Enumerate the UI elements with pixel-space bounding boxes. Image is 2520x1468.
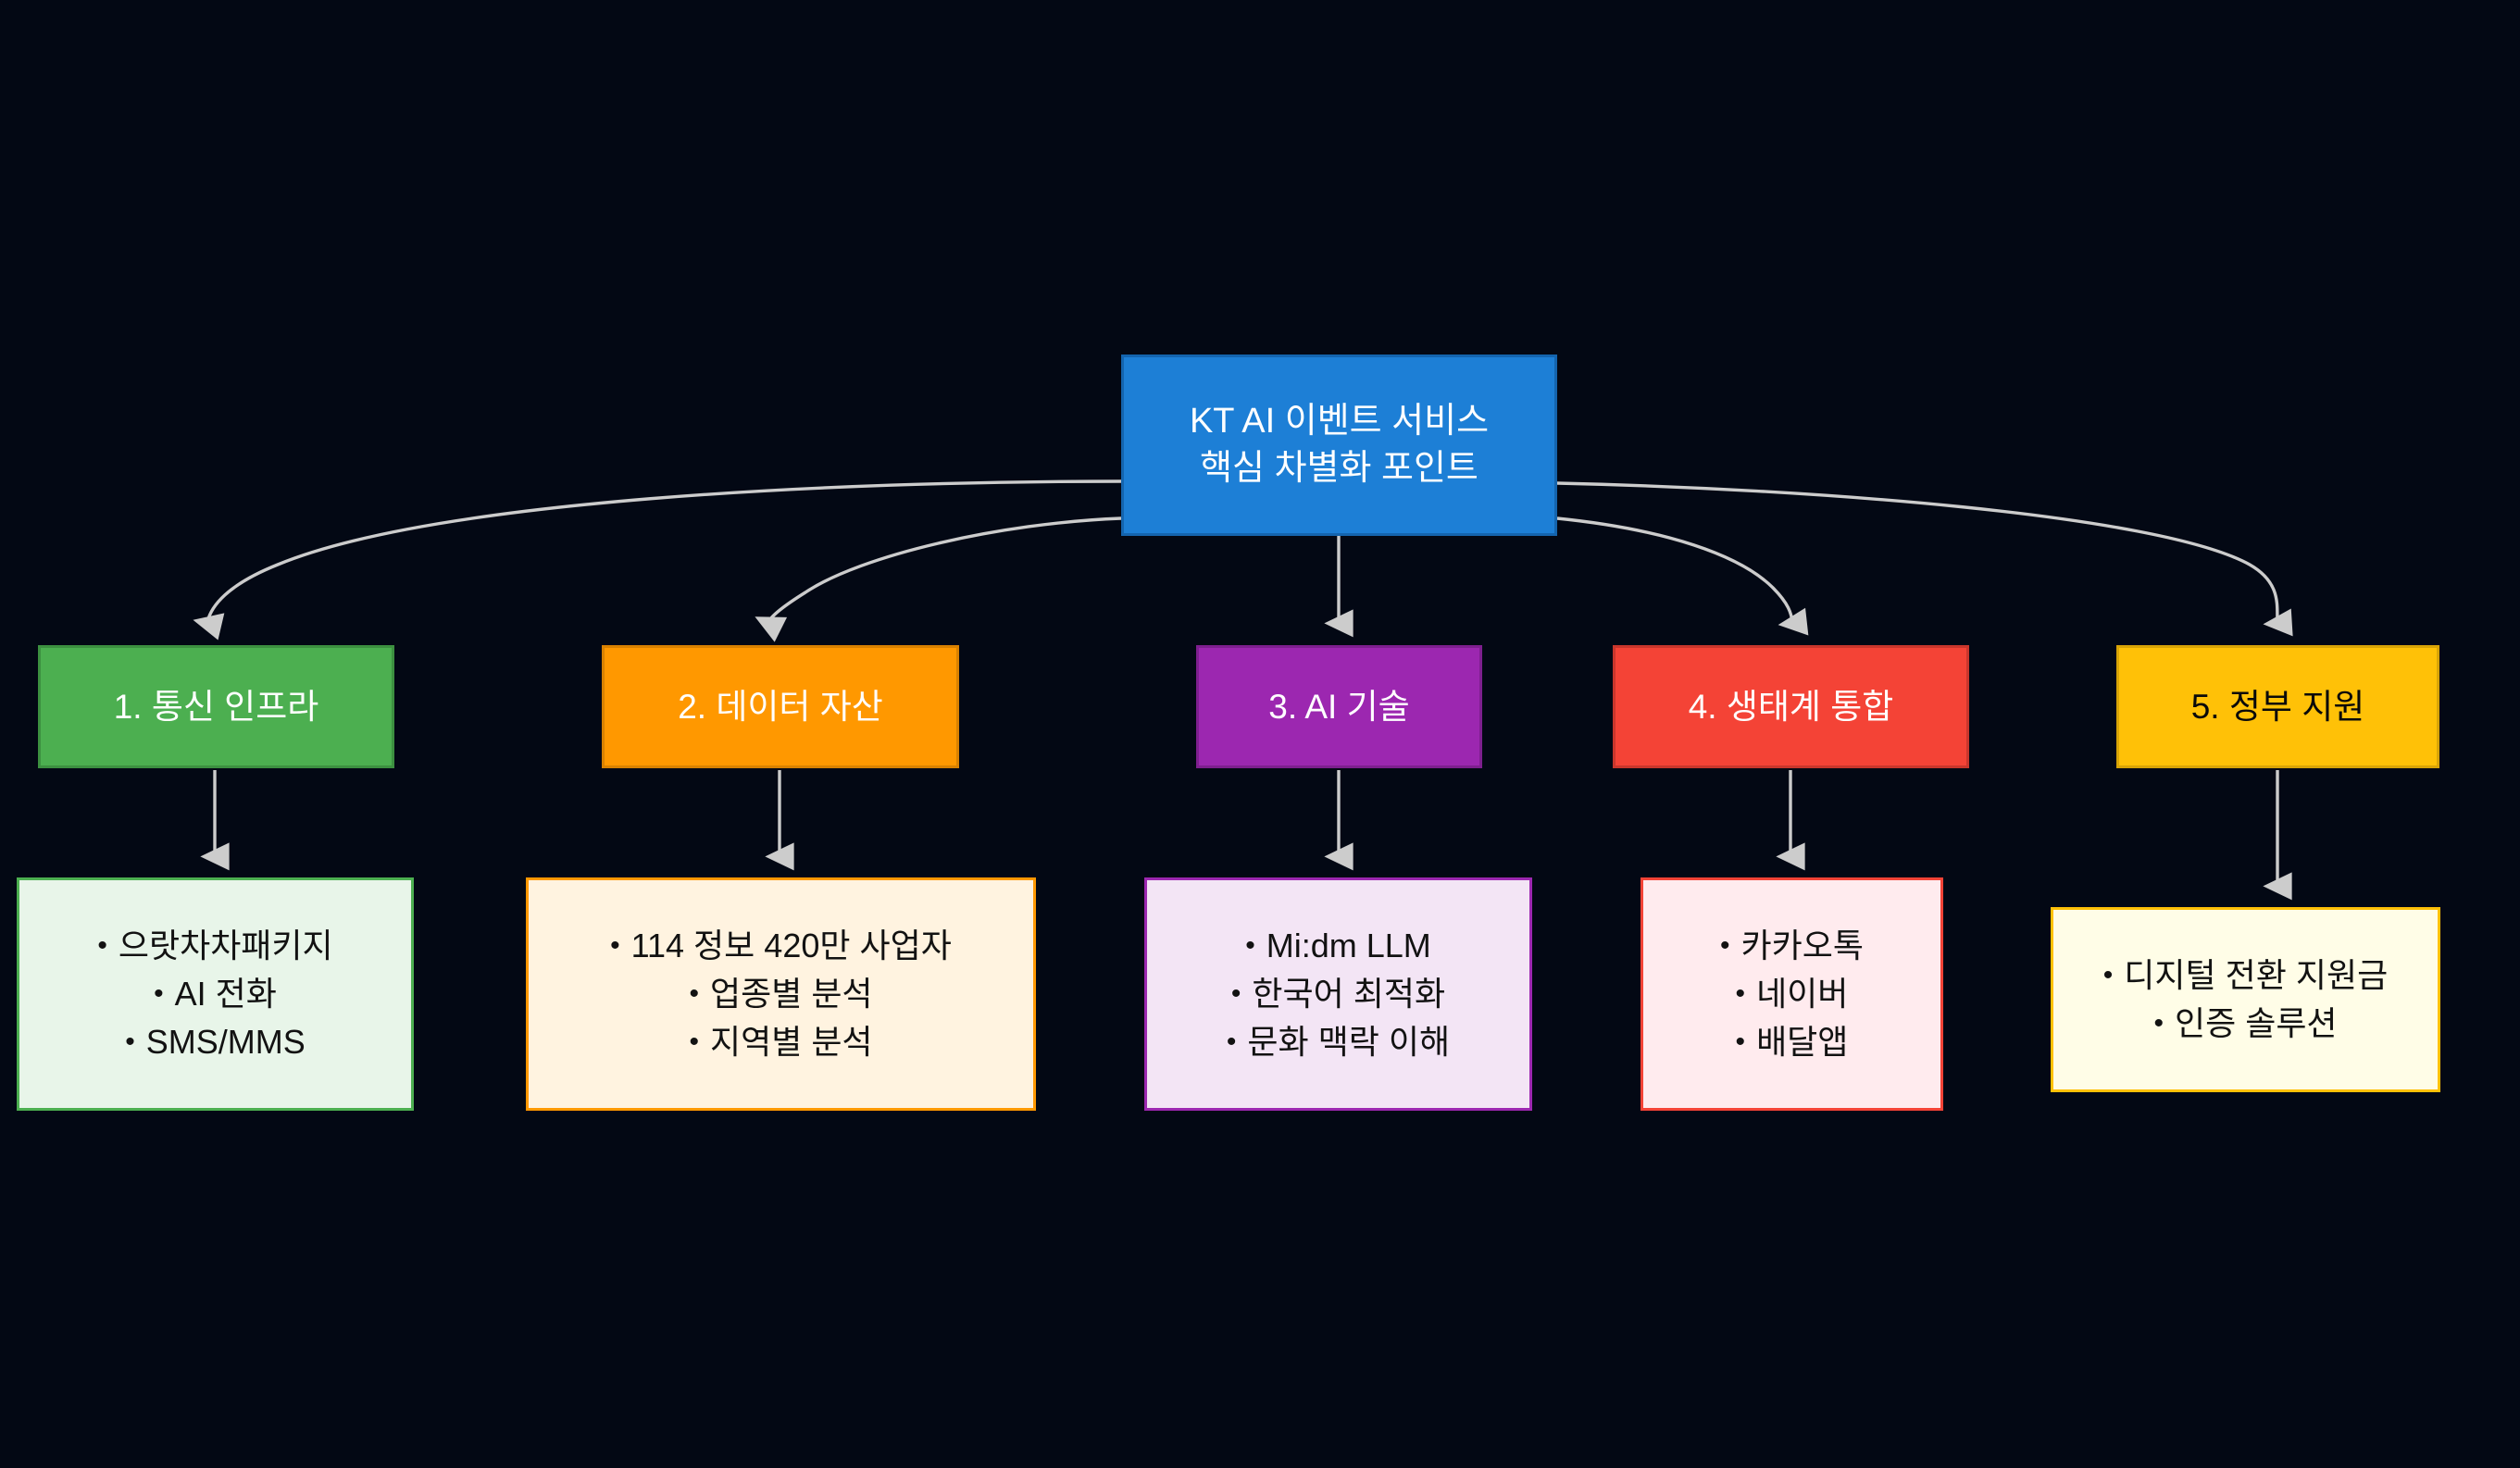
bullet-glyph: • (125, 1026, 135, 1057)
detail-list: •Mi:dm LLM •한국어 최적화 •문화 맥락 이해 (1164, 922, 1513, 1067)
detail-list: •114 정보 420만 사업자 •업종별 분석 •지역별 분석 (545, 922, 1017, 1067)
detail-node-ecosystem-integration[interactable]: •카카오톡 •네이버 •배달앱 (1640, 877, 1943, 1111)
list-item-label: 배달앱 (1756, 1023, 1848, 1061)
bullet-glyph: • (2103, 960, 2114, 990)
list-item: •SMS/MMS (36, 1018, 394, 1066)
list-item: •배달앱 (1660, 1018, 1924, 1066)
list-item-label: 114 정보 420만 사업자 (631, 927, 952, 964)
bullet-glyph: • (1736, 1026, 1746, 1057)
bullet-glyph: • (1736, 978, 1746, 1009)
list-item-label: 디지털 전환 지원금 (2124, 956, 2388, 994)
bullet-glyph: • (1231, 978, 1241, 1009)
edge-root-to-branch-5 (1557, 483, 2277, 622)
branch-node-government-support[interactable]: 5. 정부 지원 (2116, 645, 2439, 768)
branch-node-ai-technology[interactable]: 3. AI 기술 (1196, 645, 1482, 768)
branch-node-data-assets[interactable]: 2. 데이터 자산 (602, 645, 959, 768)
branch-node-label: 3. AI 기술 (1268, 684, 1409, 730)
edge-root-to-branch-2 (768, 518, 1121, 622)
list-item: •네이버 (1660, 970, 1924, 1018)
root-node-label: KT AI 이벤트 서비스 핵심 차별화 포인트 (1190, 398, 1489, 492)
bullet-glyph: • (689, 1026, 699, 1057)
list-item-label: 문화 맥락 이해 (1247, 1023, 1450, 1061)
bullet-glyph: • (1245, 930, 1255, 961)
detail-node-government-support[interactable]: •디지털 전환 지원금 •인증 솔루션 (2051, 907, 2440, 1092)
bullet-glyph: • (1720, 930, 1730, 961)
detail-list: •디지털 전환 지원금 •인증 솔루션 (2070, 952, 2421, 1048)
list-item-label: 으랏차차패키지 (119, 927, 333, 964)
branch-node-label: 4. 생태계 통합 (1689, 684, 1894, 730)
list-item: •문화 맥락 이해 (1164, 1018, 1513, 1066)
list-item: •디지털 전환 지원금 (2070, 952, 2421, 1000)
bullet-glyph: • (154, 978, 164, 1009)
list-item: •AI 전화 (36, 970, 394, 1018)
branch-node-label: 5. 정부 지원 (2191, 684, 2365, 730)
branch-node-ecosystem-integration[interactable]: 4. 생태계 통합 (1613, 645, 1969, 768)
bullet-glyph: • (97, 930, 107, 961)
detail-node-telecom-infra[interactable]: •으랏차차패키지 •AI 전화 •SMS/MMS (17, 877, 414, 1111)
root-node[interactable]: KT AI 이벤트 서비스 핵심 차별화 포인트 (1121, 355, 1557, 536)
bullet-glyph: • (610, 930, 620, 961)
diagram-canvas: KT AI 이벤트 서비스 핵심 차별화 포인트 1. 통신 인프라 •으랏차차… (0, 0, 2520, 1468)
list-item-label: AI 전화 (175, 975, 277, 1013)
list-item-label: 업종별 분석 (710, 975, 873, 1013)
list-item-label: SMS/MMS (146, 1023, 306, 1061)
detail-node-data-assets[interactable]: •114 정보 420만 사업자 •업종별 분석 •지역별 분석 (526, 877, 1036, 1111)
list-item: •114 정보 420만 사업자 (545, 922, 1017, 970)
list-item: •으랏차차패키지 (36, 922, 394, 970)
list-item: •지역별 분석 (545, 1018, 1017, 1066)
list-item: •카카오톡 (1660, 922, 1924, 970)
list-item-label: 지역별 분석 (710, 1023, 873, 1061)
list-item: •인증 솔루션 (2070, 1000, 2421, 1048)
list-item-label: 인증 솔루션 (2175, 1004, 2338, 1042)
edge-root-to-branch-1 (207, 481, 1121, 622)
list-item: •업종별 분석 (545, 970, 1017, 1018)
list-item-label: 네이버 (1756, 975, 1848, 1013)
bullet-glyph: • (2153, 1008, 2164, 1039)
bullet-glyph: • (1227, 1026, 1237, 1057)
branch-node-label: 2. 데이터 자산 (678, 684, 883, 730)
list-item-label: Mi:dm LLM (1266, 927, 1431, 964)
branch-node-label: 1. 통신 인프라 (114, 684, 319, 730)
detail-list: •으랏차차패키지 •AI 전화 •SMS/MMS (36, 922, 394, 1067)
bullet-glyph: • (689, 978, 699, 1009)
branch-node-telecom-infra[interactable]: 1. 통신 인프라 (38, 645, 394, 768)
detail-list: •카카오톡 •네이버 •배달앱 (1660, 922, 1924, 1067)
list-item: •Mi:dm LLM (1164, 922, 1513, 970)
list-item-label: 카카오톡 (1741, 927, 1864, 964)
list-item: •한국어 최적화 (1164, 970, 1513, 1018)
detail-node-ai-technology[interactable]: •Mi:dm LLM •한국어 최적화 •문화 맥락 이해 (1144, 877, 1532, 1111)
edge-root-to-branch-4 (1557, 518, 1792, 622)
list-item-label: 한국어 최적화 (1252, 975, 1445, 1013)
